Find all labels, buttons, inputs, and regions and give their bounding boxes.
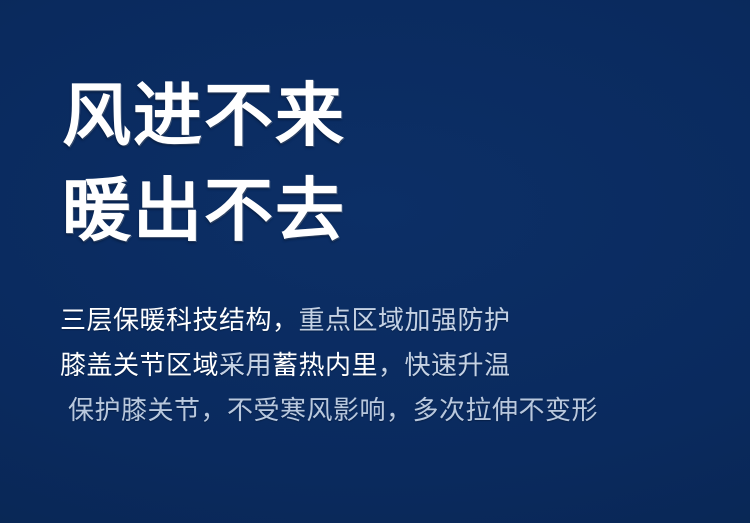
headline-block: 风进不来 暖出不去	[62, 68, 702, 258]
headline-line-1: 风进不来	[62, 68, 702, 163]
promo-banner: 风进不来 暖出不去 三层保暖科技结构，重点区域加强防护 膝盖关节区域采用蓄热内里…	[0, 0, 750, 523]
body-line-2-segment-1: 膝盖关节区域	[60, 350, 219, 380]
banner-content: 风进不来 暖出不去 三层保暖科技结构，重点区域加强防护 膝盖关节区域采用蓄热内里…	[0, 0, 750, 523]
body-line-2: 膝盖关节区域采用蓄热内里，快速升温	[60, 343, 720, 388]
body-line-3-segment-1: 保护膝关节，不受寒风影响，多次拉伸不变形	[68, 395, 598, 425]
body-line-1-segment-1: 三层保暖科技结构，	[60, 305, 299, 335]
body-line-2-segment-2: 采用	[219, 350, 272, 380]
body-copy-block: 三层保暖科技结构，重点区域加强防护 膝盖关节区域采用蓄热内里，快速升温 保护膝关…	[60, 298, 720, 433]
body-line-1: 三层保暖科技结构，重点区域加强防护	[60, 298, 720, 343]
body-line-2-segment-4: ，快速升温	[378, 350, 511, 380]
headline-line-2: 暖出不去	[62, 163, 702, 258]
body-line-1-segment-2: 重点区域加强防护	[299, 305, 511, 335]
body-line-2-segment-3: 蓄热内里	[272, 350, 378, 380]
body-line-3: 保护膝关节，不受寒风影响，多次拉伸不变形	[60, 388, 720, 433]
